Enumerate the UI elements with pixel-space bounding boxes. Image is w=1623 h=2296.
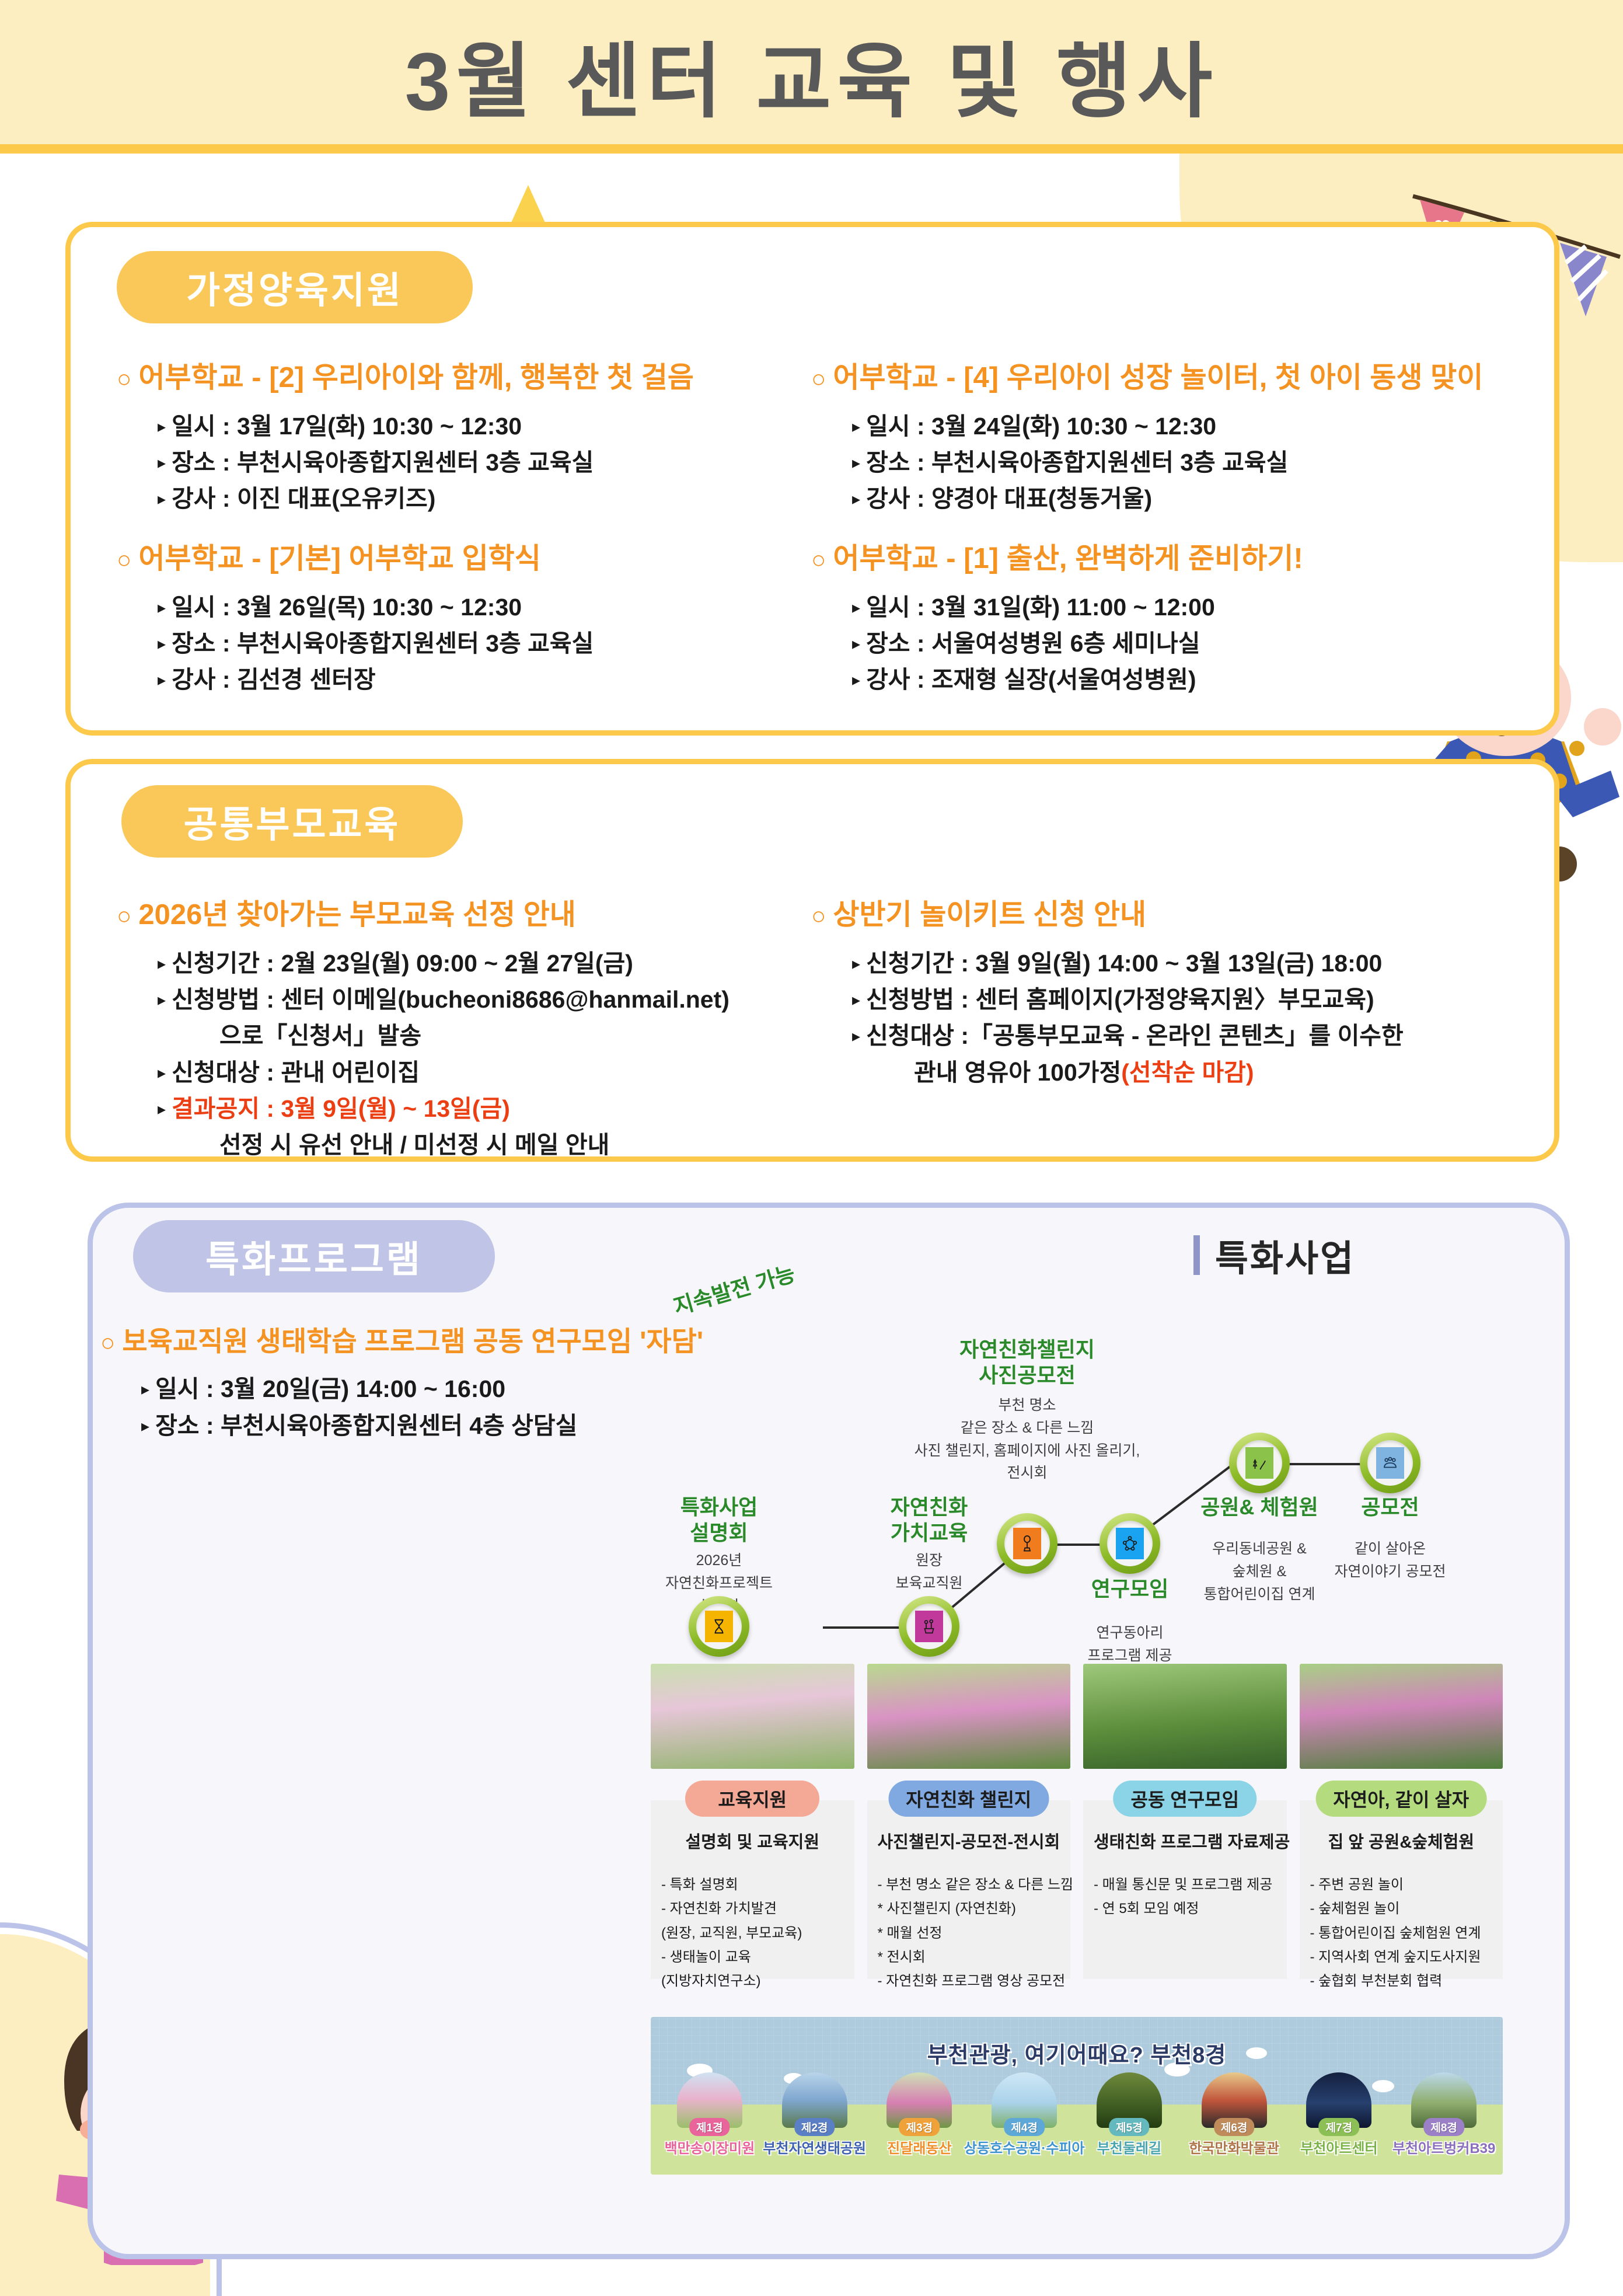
- column-item: - 지역사회 연계 숲지도사지원: [1310, 1945, 1493, 1969]
- program-column: 공동 연구모임 생태친화 프로그램 자료제공 - 매월 통신문 및 프로그램 제…: [1083, 1781, 1287, 1979]
- triangle-bullet-icon: ▸: [158, 454, 166, 472]
- program-detail-line: ▸일시 : 3월 31일(화) 11:00 ~ 12:00: [852, 589, 1303, 625]
- bucheon-tourism-banner: 부천관광, 여기어때요? 부천8경 제1경백만송이장미원 제2경부천자연생태공원…: [651, 2017, 1503, 2175]
- header-divider-rule: [0, 144, 1623, 154]
- spot-name: 부천자연생태공원: [763, 2137, 866, 2157]
- program-entry-2: ○어부학교 - [4] 우리아이 성장 놀이터, 첫 아이 동생 맞이 ▸일시 …: [811, 361, 1483, 517]
- column-item: - 숲체험원 놀이: [1310, 1897, 1493, 1921]
- program-title: ○어부학교 - [2] 우리아이와 함께, 행복한 첫 걸음: [117, 361, 694, 395]
- spot-rank-badge: 제5경: [1109, 2118, 1150, 2136]
- triangle-bullet-icon: ▸: [852, 991, 860, 1009]
- triangle-bullet-icon: ▸: [158, 1100, 166, 1118]
- triangle-bullet-icon: ▸: [852, 1027, 860, 1045]
- notice-result-announcement: ▸결과공지 : 3월 9일(월) ~ 13일(금): [158, 1090, 730, 1127]
- first-come-badge: (선착순 마감): [1121, 1059, 1254, 1086]
- spot-rank-badge: 제2경: [794, 2118, 835, 2136]
- flowerpot-icon: [899, 1596, 959, 1657]
- notice-application-method: ▸신청방법 : 센터 홈페이지(가정양육지원〉부모교육): [852, 981, 1404, 1018]
- triangle-bullet-icon: ▸: [158, 490, 166, 508]
- triangle-bullet-icon: ▸: [158, 635, 166, 653]
- photo-thumbnail: [1083, 1664, 1287, 1769]
- triangle-bullet-icon: ▸: [852, 635, 860, 653]
- column-item: - 자연친화 프로그램 영상 공모전: [878, 1969, 1060, 1993]
- people-group-icon: [1360, 1433, 1420, 1493]
- triangle-bullet-icon: ▸: [158, 1064, 166, 1082]
- triangle-bullet-icon: ▸: [852, 671, 860, 689]
- notice-application-method: ▸신청방법 : 센터 이메일(bucheoni8686@hanmail.net): [158, 981, 730, 1018]
- triangle-bullet-icon: ▸: [141, 1417, 149, 1435]
- column-item: - 숲협회 부천분회 협력: [1310, 1969, 1493, 1993]
- photo-thumbnail: [1300, 1664, 1503, 1769]
- triangle-bullet-icon: ▸: [852, 598, 860, 616]
- spot-name: 백만송이장미원: [665, 2137, 755, 2157]
- spot-name: 부천둘레길: [1097, 2137, 1161, 2157]
- page-title: 3월 센터 교육 및 행사: [0, 30, 1623, 133]
- spot-rank-badge: 제1경: [689, 2118, 730, 2136]
- column-item: - 매월 통신문 및 프로그램 제공: [1094, 1873, 1276, 1897]
- spot-item[interactable]: 제8경부천아트벙커B39: [1395, 2072, 1492, 2175]
- triangle-bullet-icon: ▸: [158, 954, 166, 973]
- program-title: ○어부학교 - [4] 우리아이 성장 놀이터, 첫 아이 동생 맞이: [811, 361, 1483, 395]
- section-pill-specialized-program: 특화프로그램: [133, 1220, 495, 1292]
- program-detail-line: ▸장소 : 부천시육아종합지원센터 3층 교육실: [158, 444, 694, 480]
- column-item: (지방자치연구소): [661, 1969, 844, 1993]
- column-subtitle: 생태친화 프로그램 자료제공: [1094, 1828, 1276, 1853]
- program-detail-line: ▸일시 : 3월 17일(화) 10:30 ~ 12:30: [158, 408, 694, 444]
- flow-node-label: 연구모임: [1091, 1576, 1168, 1602]
- spot-rank-badge: 제8경: [1423, 2118, 1464, 2136]
- program-title: ○보육교직원 생태학습 프로그램 공동 연구모임 '자담': [100, 1325, 703, 1358]
- flow-node-desc: 같이 살아온자연이야기 공모전: [1335, 1538, 1446, 1583]
- program-detail-line: ▸일시 : 3월 26일(목) 10:30 ~ 12:30: [158, 589, 594, 625]
- column-header: 자연아, 같이 살자: [1315, 1781, 1486, 1817]
- spot-item[interactable]: 제3경진달래동산: [871, 2072, 968, 2175]
- spot-name: 부천아트센터: [1300, 2137, 1377, 2157]
- notice-result-announcement-cont: 선정 시 유선 안내 / 미선정 시 메일 안내: [158, 1127, 730, 1163]
- flow-node-label: 자연친화가치교육: [891, 1494, 968, 1546]
- camera-challenge-icon: [997, 1513, 1057, 1574]
- column-subtitle: 설명회 및 교육지원: [661, 1828, 844, 1853]
- column-item: - 특화 설명회: [661, 1873, 844, 1897]
- column-subtitle: 사진챌린지-공모전-전시회: [878, 1828, 1060, 1853]
- notice-application-period: ▸신청기간 : 3월 9일(월) 14:00 ~ 3월 13일(금) 18:00: [852, 945, 1404, 981]
- program-detail-line: ▸장소 : 부천시육아종합지원센터 4층 상담실: [141, 1407, 703, 1444]
- program-detail-line: ▸장소 : 서울여성병원 6층 세미나실: [852, 625, 1303, 661]
- spot-rank-badge: 제4경: [1004, 2118, 1045, 2136]
- triangle-bullet-icon: ▸: [852, 454, 860, 472]
- column-item: - 생태놀이 교육: [661, 1945, 844, 1969]
- program-detail-line: ▸일시 : 3월 24일(화) 10:30 ~ 12:30: [852, 408, 1483, 444]
- network-icon: [1100, 1513, 1160, 1574]
- flow-node-desc: 부천 명소같은 장소 & 다른 느낌사진 챌린지, 홈페이지에 사진 올리기,전…: [915, 1394, 1140, 1485]
- program-entry-3: ○어부학교 - [기본] 어부학교 입학식 ▸일시 : 3월 26일(목) 10…: [117, 542, 594, 698]
- program-detail-line: ▸강사 : 양경아 대표(청동거울): [852, 480, 1483, 517]
- section-pill-family-support: 가정양육지원: [117, 251, 473, 323]
- spot-item[interactable]: 제7경부천아트센터: [1291, 2072, 1388, 2175]
- triangle-bullet-icon: ▸: [852, 954, 860, 973]
- program-entry-1: ○어부학교 - [2] 우리아이와 함께, 행복한 첫 걸음 ▸일시 : 3월 …: [117, 361, 694, 517]
- column-header: 공동 연구모임: [1113, 1781, 1256, 1817]
- notice-entry-play-kit: ○상반기 놀이키트 신청 안내 ▸신청기간 : 3월 9일(월) 14:00 ~…: [811, 898, 1404, 1090]
- triangle-bullet-icon: ▸: [158, 671, 166, 689]
- program-entry-4: ○어부학교 - [1] 출산, 완벽하게 준비하기! ▸일시 : 3월 31일(…: [811, 542, 1303, 698]
- program-detail-line: ▸장소 : 부천시육아종합지원센터 3층 교육실: [852, 444, 1483, 480]
- spot-name: 부천아트벙커B39: [1392, 2137, 1496, 2157]
- flow-node-label: 공모전: [1361, 1494, 1419, 1520]
- poster-root: 3월 센터 교육 및 행사: [0, 0, 1623, 2296]
- notice-application-method-cont: 으로「신청서」발송: [158, 1018, 730, 1054]
- banner-title: 부천관광, 여기어때요? 부천8경: [651, 2037, 1503, 2069]
- flow-node-label: 자연친화챌린지사진공모전: [959, 1337, 1095, 1388]
- program-detail-line: ▸일시 : 3월 20일(금) 14:00 ~ 16:00: [141, 1371, 703, 1407]
- column-header: 교육지원: [685, 1781, 819, 1817]
- notice-application-target: ▸신청대상 : 관내 어린이집: [158, 1054, 730, 1090]
- flow-node-desc: 연구동아리프로그램 제공: [1088, 1622, 1172, 1667]
- spot-name: 진달래동산: [887, 2137, 951, 2157]
- program-detail-line: ▸강사 : 김선경 센터장: [158, 661, 594, 698]
- program-title: ○어부학교 - [1] 출산, 완벽하게 준비하기!: [811, 542, 1303, 576]
- bullet-circle-icon: ○: [117, 902, 131, 929]
- column-item: * 전시회: [878, 1945, 1060, 1969]
- nature-photo-strip: [651, 1664, 1503, 1769]
- program-column: 교육지원 설명회 및 교육지원 - 특화 설명회 - 자연친화 가치발견 (원장…: [651, 1781, 854, 1979]
- spot-name: 상동호수공원·수피아: [964, 2137, 1085, 2157]
- notice-title: ○2026년 찾아가는 부모교육 선정 안내: [117, 898, 730, 932]
- spot-thumbnail-row: 제1경백만송이장미원 제2경부천자연생태공원 제3경진달래동산 제4경상동호수공…: [661, 2072, 1492, 2175]
- spot-item[interactable]: 제5경부천둘레길: [1081, 2072, 1178, 2175]
- bullet-circle-icon: ○: [117, 546, 131, 573]
- spot-item[interactable]: 제4경상동호수공원·수피아: [976, 2072, 1073, 2175]
- special-business-flow-diagram: 특화사업설명회 2026년자연친화프로젝트설명회 자연친화가치교육 원장보육교직…: [665, 1302, 1564, 1664]
- triangle-bullet-icon: ▸: [158, 598, 166, 616]
- bullet-circle-icon: ○: [100, 1329, 115, 1356]
- program-title: ○어부학교 - [기본] 어부학교 입학식: [117, 542, 594, 576]
- triangle-bullet-icon: ▸: [158, 417, 166, 435]
- photo-thumbnail: [867, 1664, 1071, 1769]
- bullet-circle-icon: ○: [811, 546, 826, 573]
- specialized-program-entry: ○보육교직원 생태학습 프로그램 공동 연구모임 '자담' ▸일시 : 3월 2…: [100, 1325, 703, 1444]
- notice-application-period: ▸신청기간 : 2월 23일(월) 09:00 ~ 2월 27일(금): [158, 945, 730, 981]
- column-item: - 통합어린이집 숲체험원 연계: [1310, 1921, 1493, 1945]
- notice-title: ○상반기 놀이키트 신청 안내: [811, 898, 1404, 932]
- spot-rank-badge: 제7경: [1319, 2118, 1360, 2136]
- heading-text: 특화사업: [1215, 1229, 1355, 1281]
- notice-entry-visit-parent-education: ○2026년 찾아가는 부모교육 선정 안내 ▸신청기간 : 2월 23일(월)…: [117, 898, 730, 1163]
- flow-node-desc: 우리동네공원 &숲체원 &통합어린이집 연계: [1204, 1538, 1315, 1605]
- spot-name: 한국만화박물관: [1189, 2137, 1279, 2157]
- program-detail-line: ▸강사 : 조재형 실장(서울여성병원): [852, 661, 1303, 698]
- column-item: - 연 5회 모임 예정: [1094, 1897, 1276, 1921]
- park-trail-icon: [1229, 1433, 1290, 1493]
- bullet-circle-icon: ○: [811, 365, 826, 392]
- bullet-circle-icon: ○: [117, 365, 131, 392]
- program-column: 자연친화 챌린지 사진챌린지-공모전-전시회 - 부천 명소 같은 장소 & 다…: [867, 1781, 1071, 1979]
- column-item: (원장, 교직원, 부모교육): [661, 1921, 844, 1945]
- spot-item[interactable]: 제6경한국만화박물관: [1186, 2072, 1283, 2175]
- section-pill-common-parent-education: 공통부모교육: [121, 785, 463, 858]
- special-business-heading: 특화사업: [1193, 1229, 1355, 1281]
- photo-thumbnail: [651, 1664, 854, 1769]
- heading-accent-bar: [1193, 1235, 1200, 1275]
- flow-node-label: 특화사업설명회: [680, 1494, 758, 1546]
- program-column: 자연아, 같이 살자 집 앞 공원&숲체험원 - 주변 공원 놀이 - 숲체험원…: [1300, 1781, 1503, 1979]
- notice-application-target-cont: 관내 영유아 100가정(선착순 마감): [852, 1054, 1404, 1090]
- bullet-circle-icon: ○: [811, 902, 826, 929]
- column-item: - 자연친화 가치발견: [661, 1897, 844, 1921]
- flow-node-label: 공원& 체험원: [1200, 1494, 1318, 1520]
- column-item: - 주변 공원 놀이: [1310, 1873, 1493, 1897]
- triangle-bullet-icon: ▸: [852, 417, 860, 435]
- column-item: * 매월 선정: [878, 1921, 1060, 1945]
- spot-rank-badge: 제3경: [899, 2118, 940, 2136]
- spot-rank-badge: 제6경: [1214, 2118, 1255, 2136]
- column-item: * 사진챌린지 (자연친화): [878, 1897, 1060, 1921]
- notice-application-target: ▸신청대상 :「공통부모교육 - 온라인 콘텐츠」를 이수한: [852, 1018, 1404, 1054]
- column-header: 자연친화 챌린지: [888, 1781, 1049, 1817]
- spot-item[interactable]: 제1경백만송이장미원: [661, 2072, 758, 2175]
- spot-item[interactable]: 제2경부천자연생태공원: [766, 2072, 863, 2175]
- program-breakdown-columns: 교육지원 설명회 및 교육지원 - 특화 설명회 - 자연친화 가치발견 (원장…: [651, 1781, 1503, 1979]
- hourglass-icon: [689, 1596, 749, 1657]
- triangle-bullet-icon: ▸: [141, 1380, 149, 1398]
- program-detail-line: ▸강사 : 이진 대표(오유키즈): [158, 480, 694, 517]
- triangle-bullet-icon: ▸: [852, 490, 860, 508]
- column-item: - 부천 명소 같은 장소 & 다른 느낌: [878, 1873, 1060, 1897]
- program-detail-line: ▸장소 : 부천시육아종합지원센터 3층 교육실: [158, 625, 594, 661]
- column-subtitle: 집 앞 공원&숲체험원: [1310, 1828, 1493, 1853]
- triangle-bullet-icon: ▸: [158, 991, 166, 1009]
